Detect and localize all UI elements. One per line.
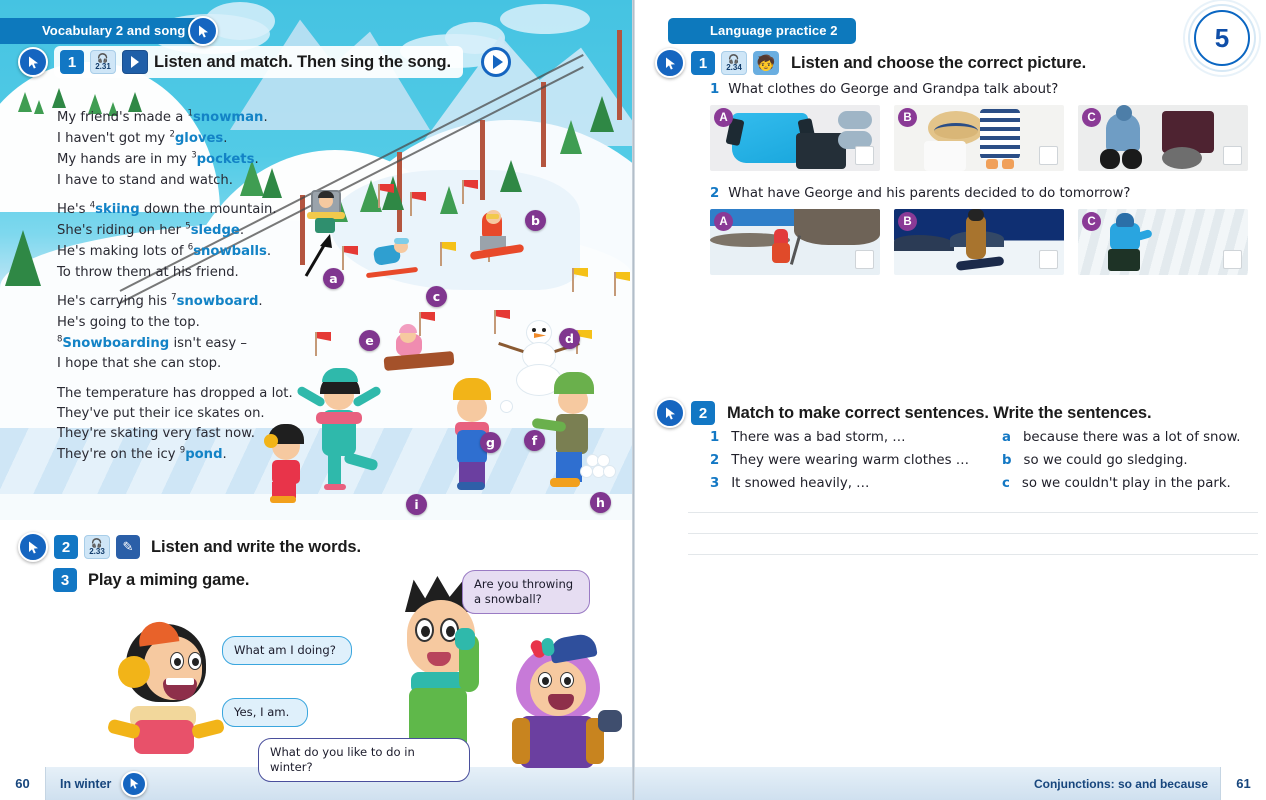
bubble-text: Are you throwing a snowball? [474, 577, 573, 606]
question-2-photo-row: A B [710, 209, 1255, 275]
course-flag [494, 310, 496, 334]
cursor-icon[interactable] [18, 532, 48, 562]
match-left-text: They were wearing warm clothes … [731, 453, 969, 468]
song-line: He's 4skiing down the mountain. [57, 202, 277, 217]
question-1-photo-row: A B [710, 105, 1255, 171]
vocab-keyword: pockets [197, 152, 255, 167]
match-left-number: 3 [710, 476, 719, 491]
section-tab-language-practice: Language practice 2 [668, 18, 856, 44]
page-gutter [632, 0, 635, 800]
bubble-what-am-i-doing: What am I doing? [222, 636, 352, 665]
match-right-key: a [1002, 430, 1011, 445]
song-stanza: He's 4skiing down the mountain.She's rid… [57, 200, 293, 283]
song-stanza: He's carrying his 7snowboard.He's going … [57, 292, 293, 375]
bubble-text: Yes, I am. [234, 705, 289, 719]
sledging-girl [380, 330, 458, 374]
song-line: I have to stand and watch. [57, 173, 233, 188]
course-flag [315, 332, 317, 356]
option-letter: B [898, 212, 917, 231]
girl-with-earmuffs [108, 618, 223, 753]
course-flag [572, 268, 574, 292]
page-number-right: 61 [1220, 767, 1266, 800]
unit-number-badge: 5 [1194, 10, 1250, 66]
write-icon[interactable]: ✎ [116, 535, 140, 559]
match-right-item[interactable]: b so we could go sledging. [1002, 453, 1262, 468]
photo-option-b[interactable]: B [894, 209, 1064, 275]
marker-i[interactable]: i [406, 494, 427, 515]
character-avatar-icon: 🧒 [753, 51, 779, 75]
song-stanza: My friend's made a 1snowman.I haven't go… [57, 108, 293, 191]
photo-option-c[interactable]: C [1078, 209, 1248, 275]
bubble-are-you-throwing: Are you throwing a snowball? [462, 570, 590, 614]
snowball-in-flight [500, 400, 513, 413]
vocab-keyword: sledge [191, 223, 240, 238]
play-icon[interactable] [481, 47, 511, 77]
lift-pole [617, 30, 622, 120]
option-letter: B [898, 108, 917, 127]
match-left-item[interactable]: 2 They were wearing warm clothes … [710, 453, 990, 468]
footer-unit-label: In winter [60, 777, 111, 791]
vocab-keyword: snowboard [177, 294, 259, 309]
option-letter: A [714, 212, 733, 231]
exercise-1-text: Listen and choose the correct picture. [791, 54, 1086, 73]
exercise-number: 2 [54, 535, 78, 559]
headphones-icon[interactable]: 🎧2.31 [90, 50, 116, 74]
snowboarder-child [470, 210, 526, 260]
course-flag [614, 272, 616, 296]
match-right-text: because there was a lot of snow. [1023, 430, 1240, 445]
pine-tree [440, 186, 458, 214]
question-number: 1 [710, 82, 719, 97]
match-left-number: 2 [710, 453, 719, 468]
match-right-item[interactable]: a because there was a lot of snow. [1002, 430, 1262, 445]
question-text: What have George and his parents decided… [728, 186, 1130, 201]
song-line: She's riding on her 5sledge. [57, 223, 244, 238]
song-lyrics: My friend's made a 1snowman.I haven't go… [57, 108, 293, 475]
question-2-line: 2 What have George and his parents decid… [710, 186, 1255, 201]
match-left-item[interactable]: 1 There was a bad storm, … [710, 430, 990, 445]
photo-option-b[interactable]: B [894, 105, 1064, 171]
match-right-key: c [1002, 476, 1010, 491]
right-page: Language practice 2 5 1 🎧2.34 🧒 Listen a… [633, 0, 1266, 800]
skier-child [364, 240, 420, 284]
headphones-icon[interactable]: 🎧2.33 [84, 535, 110, 559]
cloud [500, 4, 590, 34]
exercise-number: 2 [691, 401, 715, 425]
vocab-keyword: Snowboarding [62, 336, 169, 351]
song-line: He's carrying his 7snowboard. [57, 294, 263, 309]
song-line: The temperature has dropped a lot. [57, 386, 293, 401]
marker-f[interactable]: f [524, 430, 545, 451]
vocab-keyword: gloves [175, 131, 223, 146]
song-line: 8Snowboarding isn't easy – [57, 336, 247, 351]
purple-hair-character [498, 638, 628, 768]
exercise-1-heading: 1 🎧2.31 Listen and match. Then sing the … [18, 46, 511, 78]
bubble-text: What am I doing? [234, 643, 336, 657]
chairlift-child [305, 190, 347, 236]
skating-child-front [258, 422, 312, 504]
audio-track-number: 2.34 [726, 64, 742, 72]
match-right-column: a because there was a lot of snow. b so … [1002, 430, 1262, 491]
exercise-2-heading: 2 🎧2.33 ✎ Listen and write the words. [18, 532, 361, 562]
footer-grammar-label: Conjunctions: so and because [1034, 777, 1208, 791]
song-line: They're on the icy 9pond. [57, 447, 227, 462]
lift-pole [541, 82, 546, 167]
answer-checkbox[interactable] [855, 146, 874, 165]
pine-tree [34, 100, 44, 114]
audio-track-number: 2.31 [95, 63, 111, 71]
marker-d[interactable]: d [559, 328, 580, 349]
exercise-1-text: Listen and match. Then sing the song. [154, 53, 451, 72]
headphones-icon[interactable]: 🎧2.34 [721, 51, 747, 75]
writing-line[interactable] [688, 512, 1258, 513]
marker-a[interactable]: a [323, 268, 344, 289]
question-text: What clothes do George and Grandpa talk … [728, 82, 1058, 97]
exercise-3-text: Play a miming game. [88, 571, 249, 590]
exercise-2-heading: 2 Match to make correct sentences. Write… [655, 398, 1151, 428]
writing-line[interactable] [688, 554, 1258, 555]
page-number-left: 60 [0, 767, 46, 800]
course-flag [378, 184, 380, 208]
song-line: I haven't got my 2gloves. [57, 131, 227, 146]
cursor-tool-top[interactable] [188, 16, 218, 46]
bubble-yes-i-am: Yes, I am. [222, 698, 308, 727]
option-letter: C [1082, 212, 1101, 231]
song-line: They're skating very fast now. [57, 426, 255, 441]
song-line: He's making lots of 6snowballs. [57, 244, 271, 259]
song-line: To throw them at his friend. [57, 265, 239, 280]
song-line: They've put their ice skates on. [57, 406, 265, 421]
song-line: I hope that she can stop. [57, 356, 221, 371]
course-flag [342, 246, 344, 270]
section-tab-vocabulary: Vocabulary 2 and song [0, 18, 203, 44]
option-letter: C [1082, 108, 1101, 127]
pine-tree [382, 176, 404, 210]
exercise-2-text: Match to make correct sentences. Write t… [727, 404, 1151, 423]
cursor-icon[interactable] [655, 398, 685, 428]
answer-checkbox[interactable] [855, 250, 874, 269]
photo-option-c[interactable]: C [1078, 105, 1248, 171]
song-line: My friend's made a 1snowman. [57, 110, 268, 125]
answer-checkbox[interactable] [1223, 250, 1242, 269]
song-line: My hands are in my 3pockets. [57, 152, 259, 167]
course-flag [410, 192, 412, 216]
question-1-line: 1 What clothes do George and Grandpa tal… [710, 82, 1255, 97]
course-flag [440, 242, 442, 266]
match-left-column: 1 There was a bad storm, … 2 They were w… [710, 430, 990, 491]
vocab-keyword: snowballs [193, 244, 267, 259]
match-right-key: b [1002, 453, 1012, 468]
right-footer: Conjunctions: so and because 61 [633, 767, 1266, 800]
answer-checkbox[interactable] [1223, 146, 1242, 165]
pine-tree [52, 88, 66, 108]
skating-girl [300, 368, 386, 490]
snowball-pile [580, 452, 616, 478]
vocab-keyword: snowman [193, 110, 264, 125]
song-line: He's going to the top. [57, 315, 200, 330]
cursor-icon[interactable] [655, 48, 685, 78]
cursor-icon[interactable] [18, 47, 48, 77]
bubble-what-do-you-like: What do you like to do in winter? [258, 738, 470, 782]
match-right-item[interactable]: c so we couldn't play in the park. [1002, 476, 1262, 491]
option-letter: A [714, 108, 733, 127]
match-right-text: so we couldn't play in the park. [1022, 476, 1231, 491]
match-left-item[interactable]: 3 It snowed heavily, … [710, 476, 990, 491]
vocab-keyword: skiing [95, 202, 140, 217]
exercise-number: 3 [53, 568, 77, 592]
exercise-2-text: Listen and write the words. [151, 538, 361, 557]
lower-left-activities: 2 🎧2.33 ✎ Listen and write the words. 3 … [0, 520, 633, 765]
marker-c[interactable]: c [426, 286, 447, 307]
question-1: 1 What clothes do George and Grandpa tal… [710, 82, 1255, 171]
question-number: 2 [710, 186, 719, 201]
photo-option-a[interactable]: A [710, 209, 880, 275]
marker-e[interactable]: e [359, 330, 380, 351]
exercise-1-heading: 1 🎧2.34 🧒 Listen and choose the correct … [655, 48, 1086, 78]
exercise-number: 1 [691, 51, 715, 75]
photo-option-a[interactable]: A [710, 105, 880, 171]
left-page: a b c d e f g h i Vocabulary 2 and song … [0, 0, 633, 800]
marker-b[interactable]: b [525, 210, 546, 231]
cursor-icon[interactable] [121, 771, 147, 797]
answer-checkbox[interactable] [1039, 250, 1058, 269]
audio-track-number: 2.33 [89, 548, 105, 556]
vocab-keyword: pond [185, 447, 222, 462]
book-spread: a b c d e f g h i Vocabulary 2 and song … [0, 0, 1266, 800]
match-left-text: There was a bad storm, … [731, 430, 905, 445]
writing-lines[interactable] [688, 512, 1258, 555]
lift-pole [480, 120, 485, 200]
exercise-3-heading: 3 Play a miming game. [53, 568, 249, 592]
marker-g[interactable]: g [480, 432, 501, 453]
video-icon[interactable] [122, 50, 148, 74]
pine-tree [590, 96, 614, 132]
match-left-text: It snowed heavily, … [731, 476, 869, 491]
match-left-number: 1 [710, 430, 719, 445]
exercise-number: 1 [60, 50, 84, 74]
question-2: 2 What have George and his parents decid… [710, 186, 1255, 275]
writing-line[interactable] [688, 533, 1258, 534]
match-right-text: so we could go sledging. [1024, 453, 1188, 468]
course-flag [462, 180, 464, 204]
pine-tree [5, 230, 41, 286]
pine-tree [560, 120, 582, 154]
pine-tree [500, 160, 522, 192]
answer-checkbox[interactable] [1039, 146, 1058, 165]
pine-tree [18, 92, 32, 112]
bubble-text: What do you like to do in winter? [270, 745, 415, 774]
marker-h[interactable]: h [590, 492, 611, 513]
